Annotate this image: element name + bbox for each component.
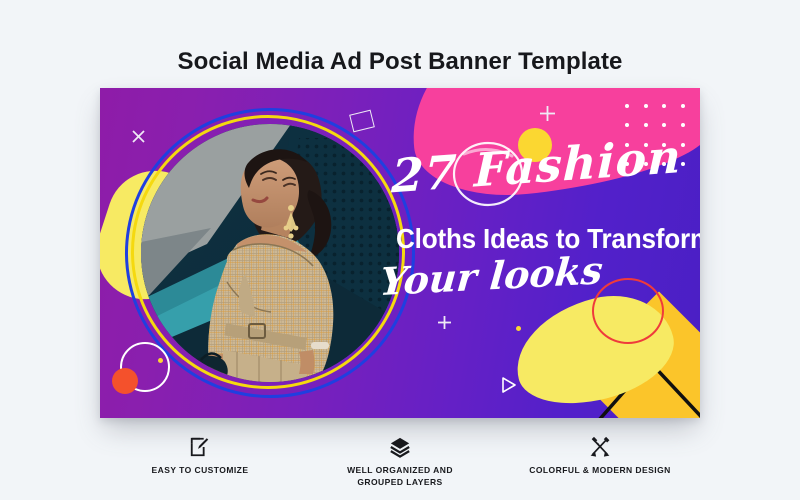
headline-bold: Cloths Ideas to Transform — [396, 222, 700, 254]
pencil-ruler-icon — [589, 436, 611, 458]
page-background: Social Media Ad Post Banner Template — [0, 0, 800, 500]
feature-item-well-organized[interactable]: WELL ORGANIZED AND GROUPED LAYERS — [300, 436, 500, 488]
headline-script-bottom: Your looks — [378, 248, 604, 305]
feature-item-easy-to-customize[interactable]: EASY TO CUSTOMIZE — [100, 436, 300, 477]
edit-square-icon — [189, 436, 211, 458]
ad-banner[interactable]: 27 Fashion Cloths Ideas to Transform You… — [100, 88, 700, 418]
tiny-yellow-dot-2 — [158, 358, 163, 363]
banner-headline-block: 27 Fashion Cloths Ideas to Transform You… — [396, 144, 660, 326]
feature-label: COLORFUL & MODERN DESIGN — [529, 465, 670, 477]
play-triangle-icon — [487, 376, 500, 394]
feature-label: EASY TO CUSTOMIZE — [152, 465, 249, 477]
tiny-yellow-dot — [516, 326, 521, 331]
feature-item-colorful-modern-design[interactable]: COLORFUL & MODERN DESIGN — [500, 436, 700, 477]
feature-list: EASY TO CUSTOMIZE WELL ORGANIZED AND GRO… — [100, 436, 700, 488]
feature-label: WELL ORGANIZED AND GROUPED LAYERS — [347, 465, 453, 488]
layers-icon — [389, 436, 411, 458]
page-title: Social Media Ad Post Banner Template — [0, 48, 800, 76]
plus-mark-icon — [540, 106, 555, 121]
cross-mark-icon — [132, 130, 145, 143]
circular-photo-frame — [125, 108, 415, 398]
orange-dot-shape — [112, 368, 138, 394]
